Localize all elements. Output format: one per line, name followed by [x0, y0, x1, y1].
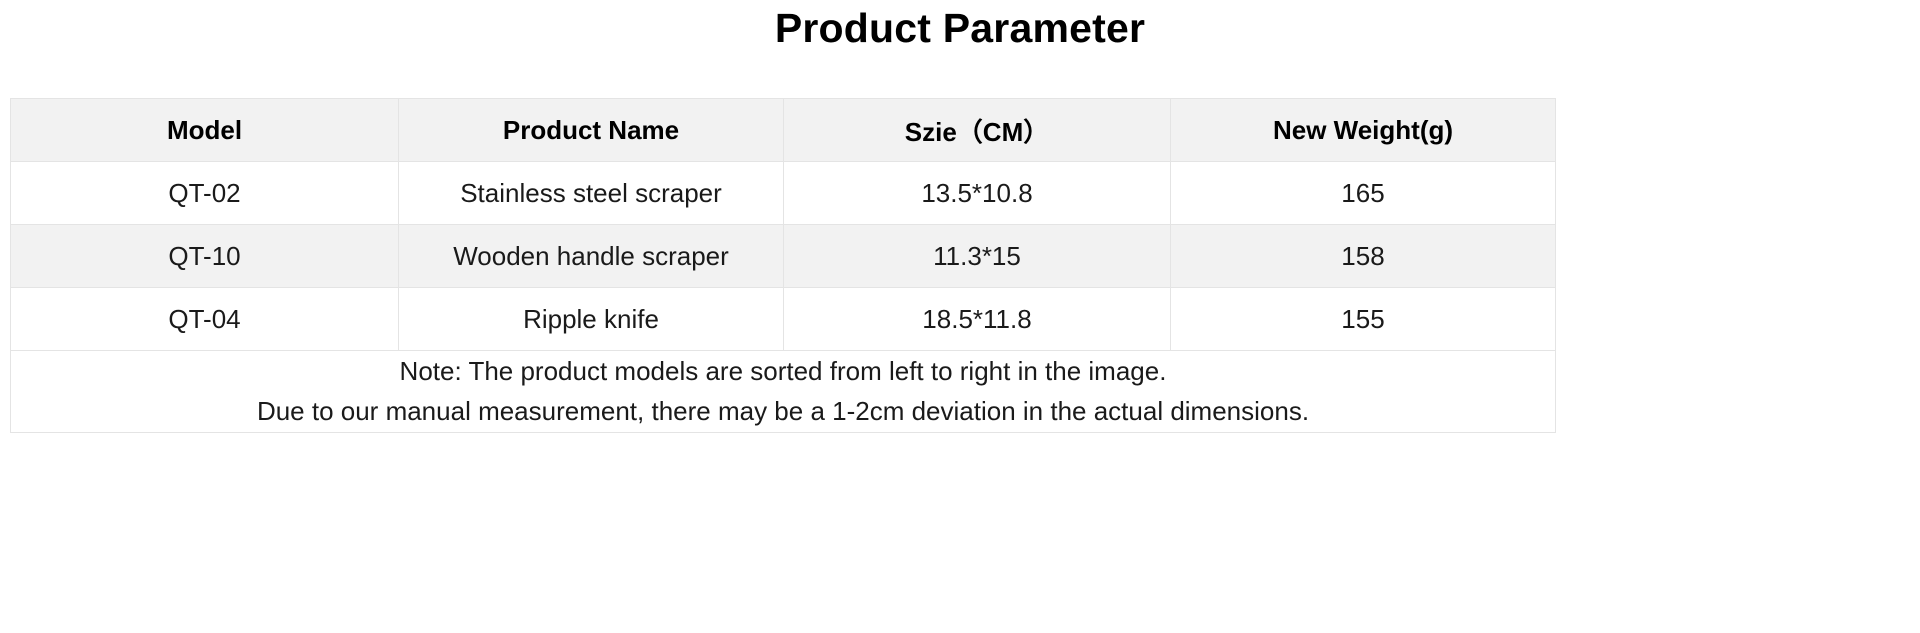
table-header: Model Product Name Szie（CM） New Weight(g…	[11, 99, 1556, 162]
table-header-row: Model Product Name Szie（CM） New Weight(g…	[11, 99, 1556, 162]
table-row: QT-04 Ripple knife 18.5*11.8 155	[11, 288, 1556, 351]
cell-name: Ripple knife	[399, 288, 784, 351]
column-header-model: Model	[11, 99, 399, 162]
cell-size: 18.5*11.8	[784, 288, 1171, 351]
page-title: Product Parameter	[0, 0, 1920, 49]
cell-name: Stainless steel scraper	[399, 162, 784, 225]
cell-model: QT-04	[11, 288, 399, 351]
table-container: Model Product Name Szie（CM） New Weight(g…	[0, 98, 1920, 433]
cell-size: 11.3*15	[784, 225, 1171, 288]
table-body: QT-02 Stainless steel scraper 13.5*10.8 …	[11, 162, 1556, 433]
cell-model: QT-10	[11, 225, 399, 288]
note-line-1: Note: The product models are sorted from…	[11, 351, 1555, 391]
product-parameter-table: Model Product Name Szie（CM） New Weight(g…	[10, 98, 1556, 433]
table-note: Note: The product models are sorted from…	[11, 351, 1556, 433]
column-header-new-weight: New Weight(g)	[1171, 99, 1556, 162]
cell-model: QT-02	[11, 162, 399, 225]
table-row: QT-02 Stainless steel scraper 13.5*10.8 …	[11, 162, 1556, 225]
table-row: QT-10 Wooden handle scraper 11.3*15 158	[11, 225, 1556, 288]
cell-name: Wooden handle scraper	[399, 225, 784, 288]
table-note-row: Note: The product models are sorted from…	[11, 351, 1556, 433]
product-parameter-page: Product Parameter Model Product Name Szi…	[0, 0, 1920, 633]
cell-weight: 155	[1171, 288, 1556, 351]
cell-weight: 158	[1171, 225, 1556, 288]
cell-size: 13.5*10.8	[784, 162, 1171, 225]
column-header-size: Szie（CM）	[784, 99, 1171, 162]
cell-weight: 165	[1171, 162, 1556, 225]
note-line-2: Due to our manual measurement, there may…	[11, 391, 1555, 431]
column-header-product-name: Product Name	[399, 99, 784, 162]
